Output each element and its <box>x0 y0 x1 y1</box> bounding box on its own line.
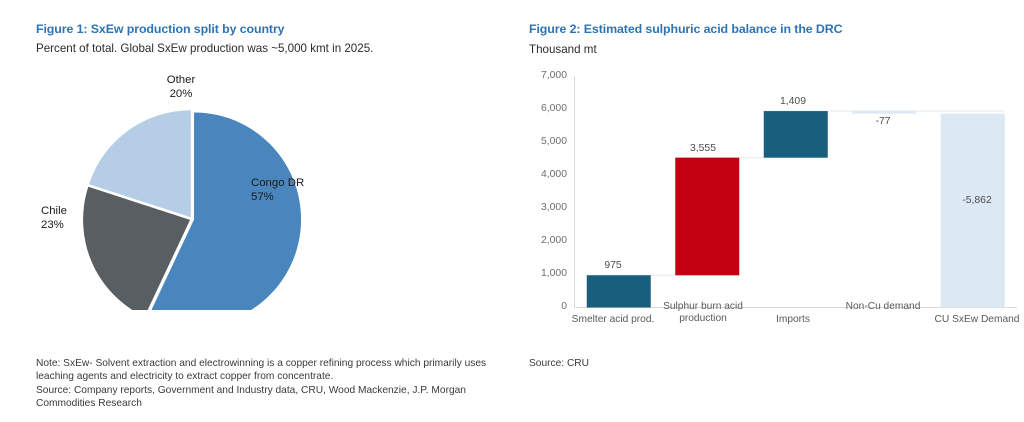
pie-label-chile-name: Chile <box>41 205 111 219</box>
x-tick-non-cu-demand: Non-Cu demand <box>838 301 928 313</box>
figure-2-title: Figure 2: Estimated sulphuric acid balan… <box>529 22 842 36</box>
waterfall-bar-sulphur-burn-acid-production <box>675 158 739 276</box>
y-tick-1000: 1,000 <box>521 268 567 279</box>
y-tick-7000: 7,000 <box>521 70 567 81</box>
y-tick-2000: 2,000 <box>521 235 567 246</box>
x-tick-imports: Imports <box>748 314 838 326</box>
value-label-imports: 1,409 <box>763 96 823 107</box>
figure-1-subtitle: Percent of total. Global SxEw production… <box>36 42 373 55</box>
pie-label-congo-dr: Congo DR 57% <box>251 177 361 204</box>
pie-label-congo-dr-name: Congo DR <box>251 177 361 191</box>
waterfall-bar-non-cu-demand <box>852 111 916 114</box>
figure-1-source: Source: Company reports, Government and … <box>36 384 498 411</box>
value-label-non-cu-demand: -77 <box>853 116 913 127</box>
pie-label-other-name: Other <box>136 74 226 88</box>
value-label-cu-sxew-demand: -5,862 <box>947 195 1007 206</box>
x-tick-smelter-acid-prod: Smelter acid prod. <box>565 314 661 326</box>
x-tick-cu-sxew-demand: CU SxEw Demand <box>929 314 1024 326</box>
pie-label-other: Other 20% <box>136 74 226 101</box>
figure-1-title: Figure 1: SxEw production split by count… <box>36 22 284 36</box>
y-tick-3000: 3,000 <box>521 202 567 213</box>
pie-label-other-value: 20% <box>136 88 226 102</box>
figure-2-source: Source: CRU <box>529 357 829 370</box>
pie-label-chile-value: 23% <box>41 219 111 233</box>
value-label-sulphur-burn-acid-production: 3,555 <box>673 143 733 154</box>
report-page: Figure 1: SxEw production split by count… <box>0 0 1024 422</box>
y-tick-0: 0 <box>521 301 567 312</box>
y-tick-6000: 6,000 <box>521 103 567 114</box>
figure-2-subtitle: Thousand mt <box>529 43 597 56</box>
x-tick-sulphur-burn-acid-production: Sulphur burn acid production <box>658 301 748 326</box>
waterfall-bar-cu-sxew-demand <box>941 114 1005 308</box>
y-tick-5000: 5,000 <box>521 136 567 147</box>
pie-label-congo-dr-value: 57% <box>251 191 361 205</box>
value-label-smelter-acid-prod: 975 <box>583 260 643 271</box>
pie-chart: Congo DR 57% Chile 23% Other 20% <box>36 75 476 310</box>
pie-label-chile: Chile 23% <box>41 205 111 232</box>
figure-1-panel: Figure 1: SxEw production split by count… <box>0 0 512 422</box>
figure-1-note: Note: SxEw- Solvent extraction and elect… <box>36 357 496 384</box>
waterfall-bar-smelter-acid-prod <box>587 275 651 307</box>
y-tick-4000: 4,000 <box>521 169 567 180</box>
waterfall-chart: 7,000 6,000 5,000 4,000 3,000 2,000 1,00… <box>525 68 1020 318</box>
waterfall-bar-imports <box>764 111 828 158</box>
